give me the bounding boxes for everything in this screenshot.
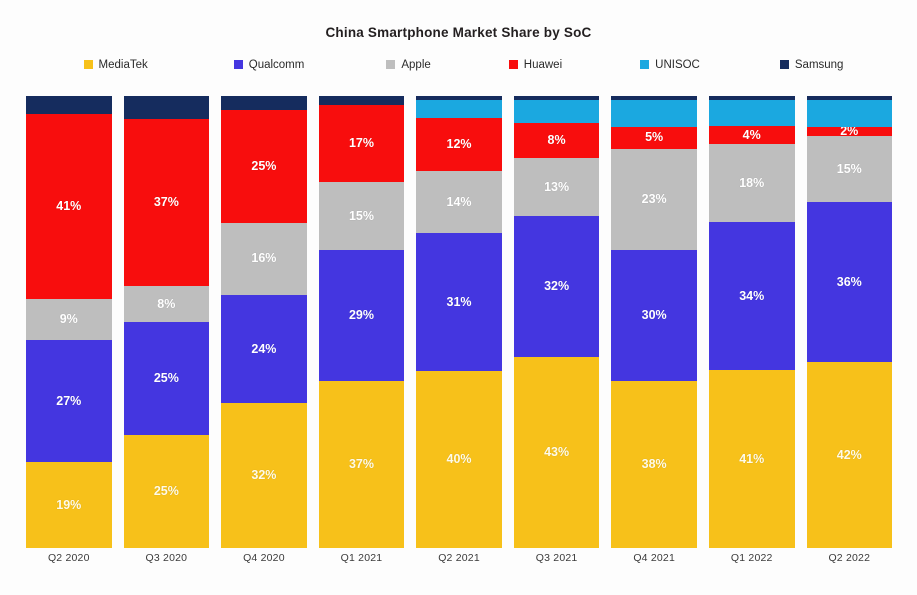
bar-segment-unisoc[interactable] — [807, 100, 893, 127]
bar-column[interactable]: 5%23%30%38% — [605, 96, 703, 548]
bar-segment-value-label: 12% — [447, 138, 472, 151]
bar-segment-value-label: 14% — [447, 196, 472, 209]
bar-segment-samsung[interactable] — [221, 96, 307, 110]
legend-item-qualcomm[interactable]: Qualcomm — [234, 59, 305, 71]
bar-segment-huawei[interactable]: 12% — [416, 118, 502, 171]
legend-item-huawei[interactable]: Huawei — [509, 59, 562, 71]
bar-segment-apple[interactable]: 13% — [514, 158, 600, 216]
legend-item-mediatek[interactable]: MediaTek — [84, 59, 148, 71]
bar-segment-apple[interactable]: 15% — [807, 136, 893, 202]
bar-segment-value-label: 8% — [548, 134, 566, 147]
bar-column[interactable]: 2%15%36%42% — [801, 96, 899, 548]
bar-segment-qualcomm[interactable]: 34% — [709, 222, 795, 370]
x-axis-tick-label: Q4 2020 — [215, 552, 313, 564]
bar-segment-qualcomm[interactable]: 36% — [807, 202, 893, 362]
bar-segment-value-label: 25% — [154, 372, 179, 385]
bar-segment-qualcomm[interactable]: 24% — [221, 295, 307, 403]
legend-swatch-icon — [640, 60, 649, 69]
bar-column[interactable]: 41%9%27%19% — [20, 96, 118, 548]
bar-segment-mediatek[interactable]: 32% — [221, 403, 307, 548]
bar-segment-value-label: 15% — [837, 163, 862, 176]
bar-segment-apple[interactable]: 15% — [319, 182, 405, 250]
bar-segment-apple[interactable]: 18% — [709, 144, 795, 222]
bar-segment-mediatek[interactable]: 37% — [319, 381, 405, 548]
bar-segment-unisoc[interactable] — [611, 100, 697, 126]
plot-area: 41%9%27%19%37%8%25%25%25%16%24%32%17%15%… — [20, 96, 898, 548]
stacked-bar[interactable]: 17%15%29%37% — [319, 96, 405, 548]
stacked-bar[interactable]: 12%14%31%40% — [416, 96, 502, 548]
bar-segment-value-label: 13% — [544, 181, 569, 194]
bar-segment-mediatek[interactable]: 38% — [611, 381, 697, 548]
bar-segment-qualcomm[interactable]: 31% — [416, 233, 502, 370]
x-axis-tick-label: Q2 2021 — [410, 552, 508, 564]
bar-segment-apple[interactable]: 9% — [26, 299, 112, 340]
legend-label: Qualcomm — [249, 59, 305, 71]
bar-segment-value-label: 17% — [349, 137, 374, 150]
legend-label: UNISOC — [655, 59, 700, 71]
bar-segment-value-label: 40% — [447, 453, 472, 466]
stacked-bar[interactable]: 4%18%34%41% — [709, 96, 795, 548]
bar-segment-value-label: 36% — [837, 276, 862, 289]
bar-segment-value-label: 43% — [544, 446, 569, 459]
stacked-bar[interactable]: 2%15%36%42% — [807, 96, 893, 548]
bar-segment-mediatek[interactable]: 40% — [416, 371, 502, 548]
bar-segment-value-label: 27% — [56, 395, 81, 408]
bar-segment-value-label: 15% — [349, 210, 374, 223]
bar-segment-unisoc[interactable] — [416, 100, 502, 118]
legend-item-unisoc[interactable]: UNISOC — [640, 59, 700, 71]
bar-segment-value-label: 4% — [743, 129, 761, 142]
bar-column[interactable]: 17%15%29%37% — [313, 96, 411, 548]
bar-segment-value-label: 5% — [645, 131, 663, 144]
bar-segment-huawei[interactable]: 41% — [26, 114, 112, 299]
stacked-bar[interactable]: 8%13%32%43% — [514, 96, 600, 548]
bar-segment-value-label: 42% — [837, 449, 862, 462]
bar-segment-value-label: 16% — [251, 252, 276, 265]
bar-segment-value-label: 29% — [349, 309, 374, 322]
stacked-bar[interactable]: 5%23%30%38% — [611, 96, 697, 548]
legend-item-apple[interactable]: Apple — [386, 59, 430, 71]
bar-segment-value-label: 34% — [739, 290, 764, 303]
x-axis-tick-label: Q3 2020 — [118, 552, 216, 564]
bar-segment-value-label: 2% — [840, 127, 858, 136]
legend-label: Samsung — [795, 59, 844, 71]
legend-swatch-icon — [234, 60, 243, 69]
bar-segment-apple[interactable]: 8% — [124, 286, 210, 322]
bar-segment-qualcomm[interactable]: 30% — [611, 250, 697, 382]
x-axis-tick-label: Q2 2022 — [801, 552, 899, 564]
legend-item-samsung[interactable]: Samsung — [780, 59, 844, 71]
bar-column[interactable]: 12%14%31%40% — [410, 96, 508, 548]
x-axis-tick-label: Q3 2021 — [508, 552, 606, 564]
bar-segment-value-label: 31% — [447, 296, 472, 309]
bar-segment-value-label: 8% — [157, 298, 175, 311]
bar-segment-value-label: 41% — [739, 453, 764, 466]
bar-segment-mediatek[interactable]: 19% — [26, 462, 112, 548]
chart-legend: MediaTekQualcommAppleHuaweiUNISOCSamsung — [0, 59, 917, 71]
stacked-bar[interactable]: 25%16%24%32% — [221, 96, 307, 548]
bar-segment-mediatek[interactable]: 43% — [514, 357, 600, 548]
legend-swatch-icon — [386, 60, 395, 69]
bar-segment-qualcomm[interactable]: 27% — [26, 340, 112, 462]
legend-swatch-icon — [780, 60, 789, 69]
chart-container: China Smartphone Market Share by SoC Med… — [0, 0, 917, 595]
bar-segment-value-label: 41% — [56, 200, 81, 213]
bar-segment-huawei[interactable]: 2% — [807, 127, 893, 136]
bar-segment-huawei[interactable]: 37% — [124, 119, 210, 286]
chart-title: China Smartphone Market Share by SoC — [0, 0, 917, 40]
bar-segment-qualcomm[interactable]: 25% — [124, 322, 210, 435]
bar-column[interactable]: 8%13%32%43% — [508, 96, 606, 548]
bar-segment-samsung[interactable] — [124, 96, 210, 119]
bar-column[interactable]: 37%8%25%25% — [118, 96, 216, 548]
bar-segment-value-label: 30% — [642, 309, 667, 322]
bar-segment-apple[interactable]: 14% — [416, 171, 502, 233]
bar-segment-value-label: 23% — [642, 193, 667, 206]
legend-label: Apple — [401, 59, 430, 71]
bar-segment-apple[interactable]: 23% — [611, 149, 697, 250]
bar-segment-value-label: 19% — [56, 499, 81, 512]
bar-column[interactable]: 25%16%24%32% — [215, 96, 313, 548]
bar-segment-value-label: 37% — [154, 196, 179, 209]
bar-segment-mediatek[interactable]: 41% — [709, 370, 795, 548]
legend-label: MediaTek — [99, 59, 148, 71]
bar-segment-qualcomm[interactable]: 32% — [514, 216, 600, 358]
bar-segment-value-label: 32% — [251, 469, 276, 482]
bar-segment-value-label: 25% — [251, 160, 276, 173]
legend-swatch-icon — [509, 60, 518, 69]
bar-segment-samsung[interactable] — [319, 96, 405, 105]
legend-label: Huawei — [524, 59, 562, 71]
stacked-bar[interactable]: 37%8%25%25% — [124, 96, 210, 548]
bar-segment-value-label: 24% — [251, 343, 276, 356]
bar-segment-value-label: 9% — [60, 313, 78, 326]
x-axis-tick-label: Q1 2021 — [313, 552, 411, 564]
bar-segment-mediatek[interactable]: 25% — [124, 435, 210, 548]
bar-segment-unisoc[interactable] — [709, 100, 795, 126]
bar-segment-unisoc[interactable] — [514, 100, 600, 122]
bar-segment-huawei[interactable]: 8% — [514, 123, 600, 158]
bar-segment-value-label: 37% — [349, 458, 374, 471]
legend-swatch-icon — [84, 60, 93, 69]
bar-segment-huawei[interactable]: 5% — [611, 127, 697, 149]
x-axis-tick-label: Q2 2020 — [20, 552, 118, 564]
bar-segment-mediatek[interactable]: 42% — [807, 362, 893, 548]
bar-segment-huawei[interactable]: 25% — [221, 110, 307, 223]
bar-segment-value-label: 38% — [642, 458, 667, 471]
bar-segment-huawei[interactable]: 17% — [319, 105, 405, 182]
bar-segment-apple[interactable]: 16% — [221, 223, 307, 295]
stacked-bar[interactable]: 41%9%27%19% — [26, 96, 112, 548]
x-axis-tick-label: Q4 2021 — [605, 552, 703, 564]
bar-segment-qualcomm[interactable]: 29% — [319, 250, 405, 381]
x-axis-tick-labels: Q2 2020Q3 2020Q4 2020Q1 2021Q2 2021Q3 20… — [20, 552, 898, 564]
bar-segment-samsung[interactable] — [26, 96, 112, 114]
bar-segment-value-label: 18% — [739, 177, 764, 190]
bar-column[interactable]: 4%18%34%41% — [703, 96, 801, 548]
bar-segment-huawei[interactable]: 4% — [709, 126, 795, 143]
bar-segment-value-label: 25% — [154, 485, 179, 498]
x-axis-tick-label: Q1 2022 — [703, 552, 801, 564]
bar-segment-value-label: 32% — [544, 280, 569, 293]
